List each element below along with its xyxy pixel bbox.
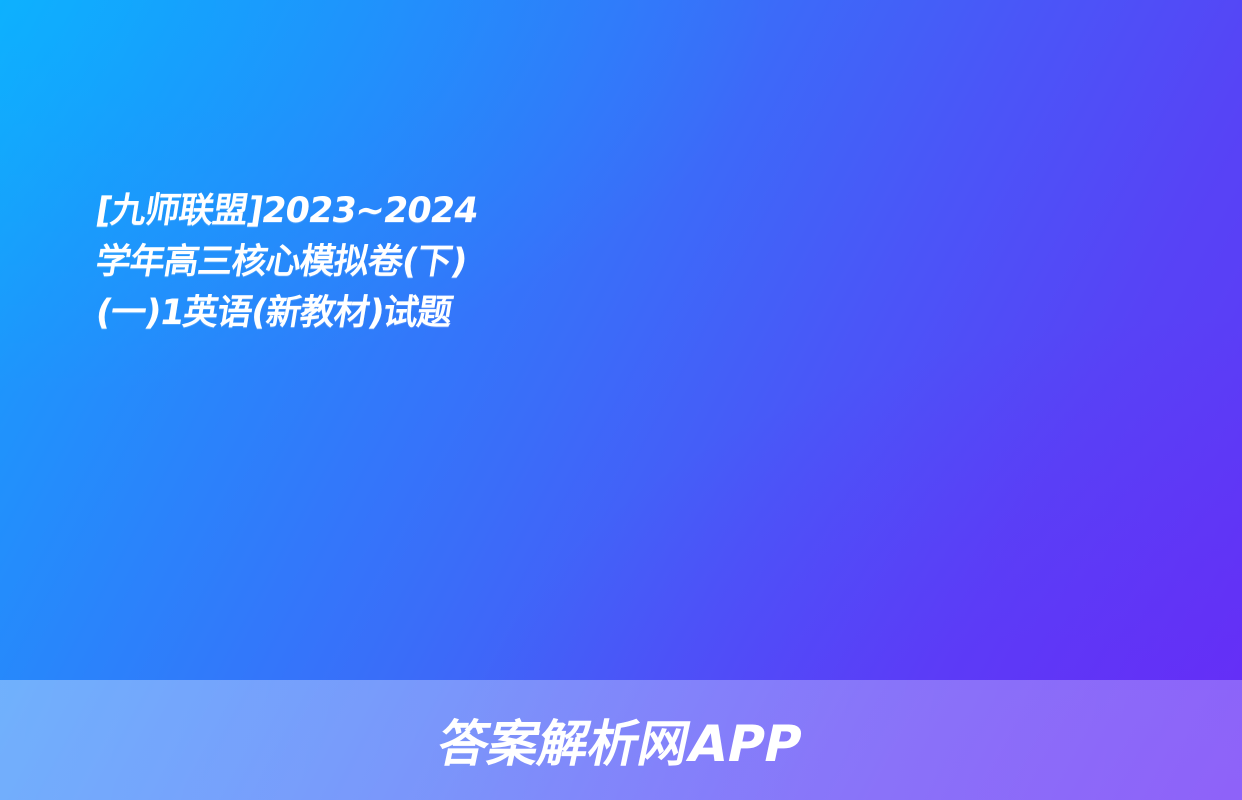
watermark-label: 答案解析网APP [432, 704, 809, 776]
page-title: [九师联盟]2023~2024 学年高三核心模拟卷(下) (一)1英语(新教材)… [96, 186, 1154, 338]
title-line-1: [九师联盟]2023~2024 [92, 186, 1158, 237]
title-line-3: (一)1英语(新教材)试题 [92, 288, 1158, 339]
cover-card: [九师联盟]2023~2024 学年高三核心模拟卷(下) (一)1英语(新教材)… [0, 0, 1242, 800]
watermark: 答案解析网APP [0, 680, 1242, 800]
title-line-2: 学年高三核心模拟卷(下) [92, 237, 1158, 288]
